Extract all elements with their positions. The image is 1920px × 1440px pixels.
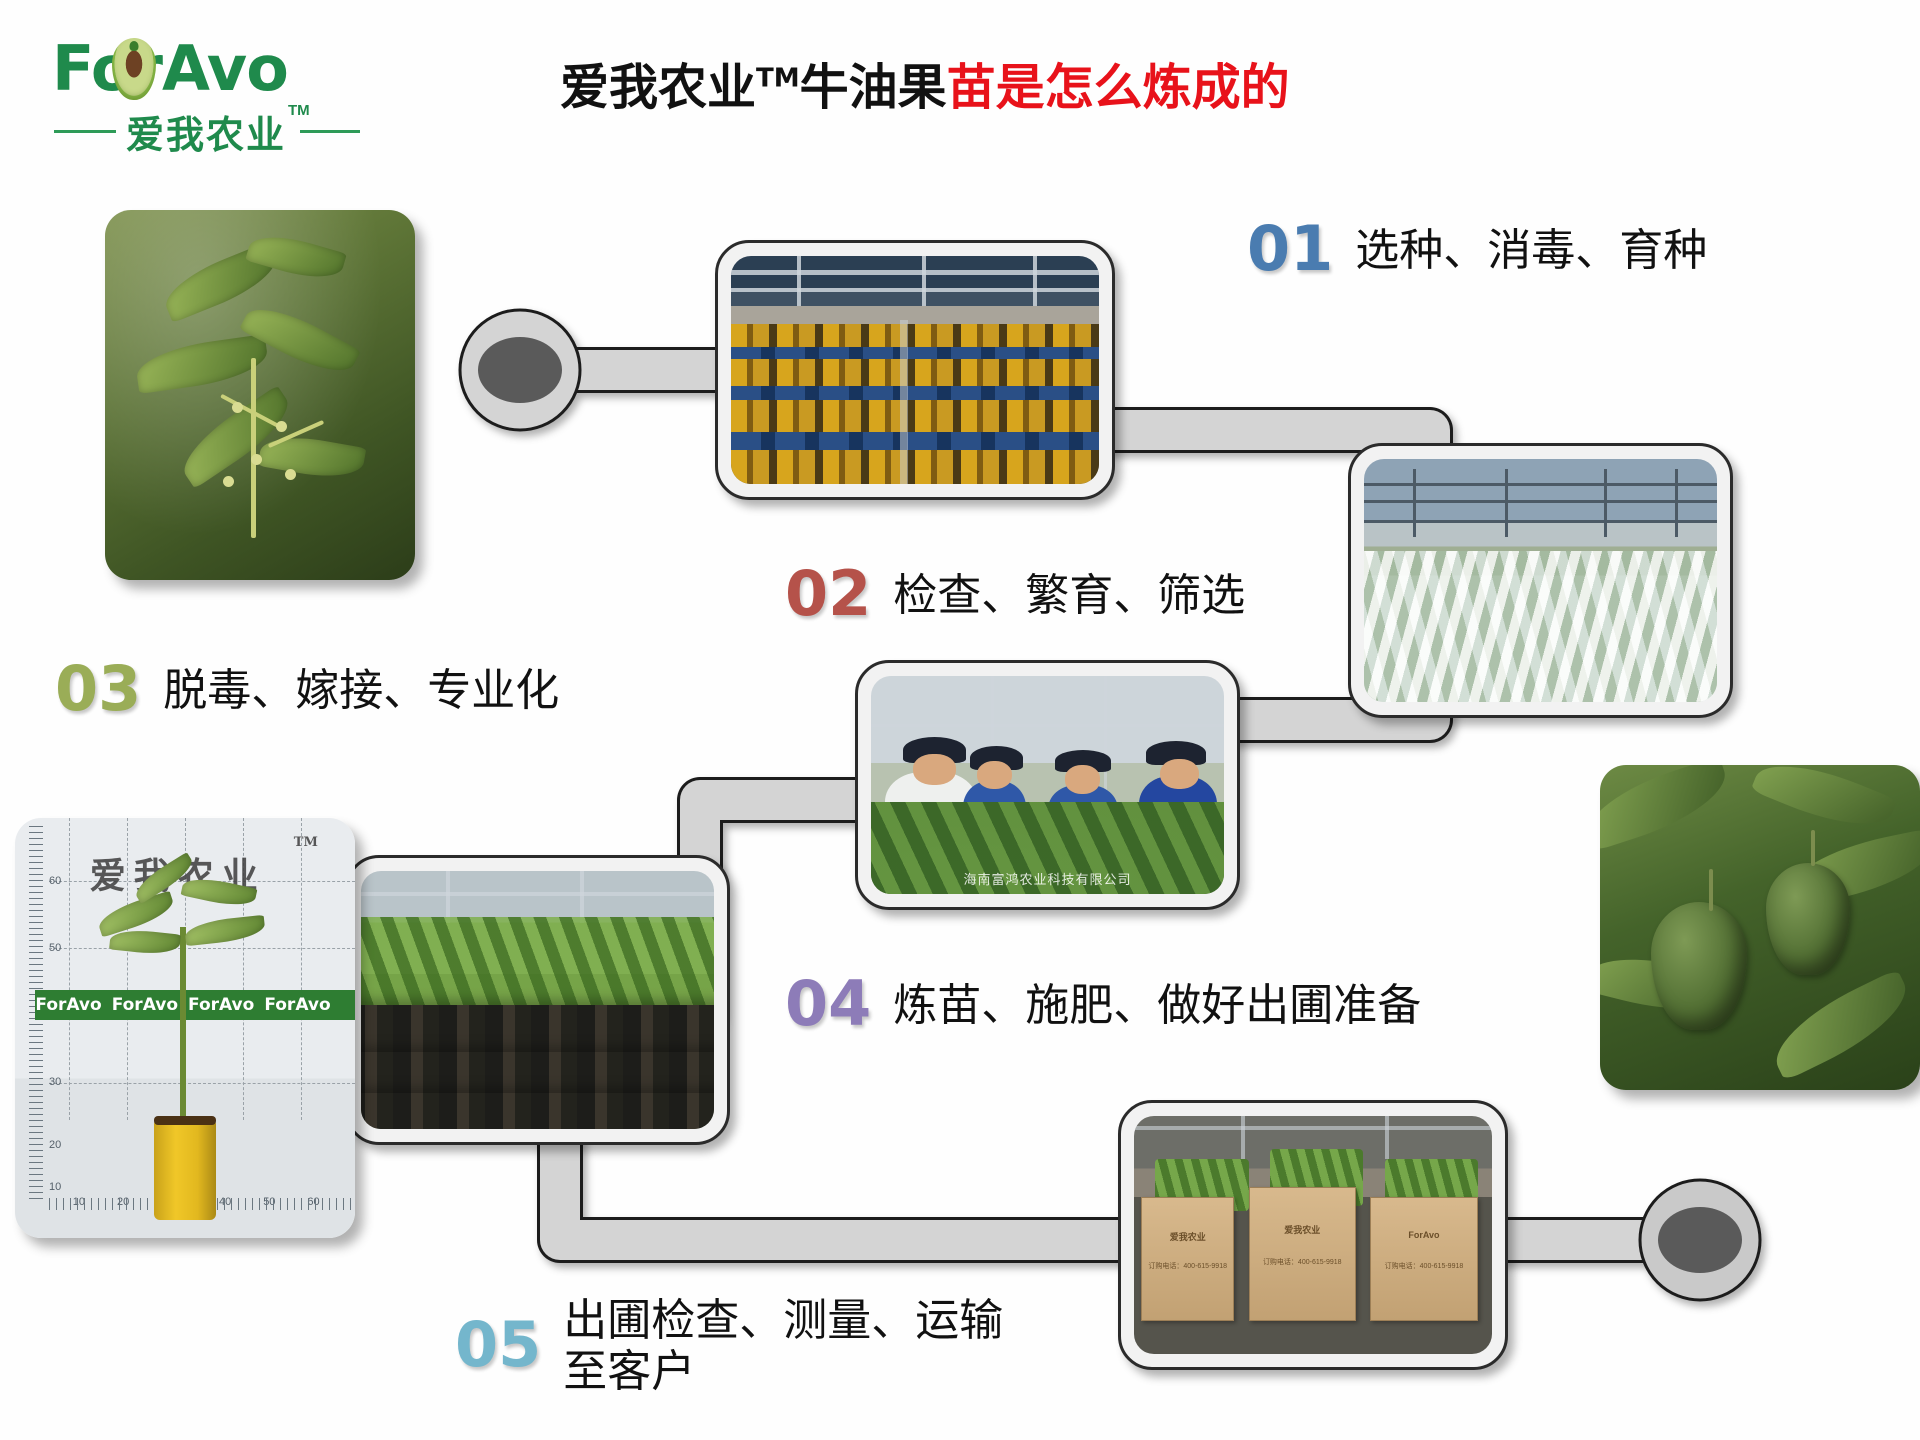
page-title: 爱我农业TM牛油果苗是怎么炼成的 [560,48,1520,119]
step-01-label: 选种、消毒、育种 [1355,220,1707,277]
foravo-band-text-4: ForAvo [264,995,330,1015]
step-04-number: 04 [785,975,871,1034]
page-title-highlight: 苗是怎么炼成的 [947,59,1290,116]
step-03-number: 03 [55,660,141,719]
shipping-box: ForAvo 订购电话：400-615-9918 [1370,1197,1477,1321]
end-node-dot [1658,1207,1742,1273]
step-04-label: 炼苗、施肥、做好出圃准备 [893,975,1421,1032]
step-03: 03 脱毒、嫁接、专业化 [55,660,559,719]
ruler-tick-10: 10 [49,1181,61,1193]
foravo-band-text-3: ForAvo [188,995,254,1015]
box-brand-text: 爱我农业 [1250,1223,1355,1236]
step-02-label: 检查、繁育、筛选 [893,565,1245,622]
ruler-tick-30: 30 [49,1076,61,1088]
shipping-box: 爱我农业 订购电话：400-615-9918 [1141,1197,1234,1321]
photo-grafted-greenhouse [1348,443,1733,718]
step-05-label-line1: 出圃检查、测量、运输 [563,1295,1003,1346]
box-phone-text: 订购电话：400-615-9918 [1250,1257,1355,1267]
ruler-tick-20: 20 [49,1139,61,1151]
foravo-band: ForAvo ForAvo ForAvo ForAvo [35,990,355,1020]
photo-hanging-fruit [1600,765,1920,1090]
shipping-box: 爱我农业 订购电话：400-615-9918 [1249,1187,1356,1320]
page-title-black-1: 爱我农业 [560,59,756,116]
logo-trademark-icon: TM [288,102,310,119]
box-brand-text: 爱我农业 [1142,1230,1233,1243]
step-02: 02 检查、繁育、筛选 [785,565,1245,624]
box-logo-text: ForAvo [1371,1230,1476,1240]
photo-seed-trays [715,240,1115,500]
logo-chinese-name: 爱我农业 [126,104,286,159]
foravo-band-text-2: ForAvo [112,995,178,1015]
box-phone-text: 订购电话：400-615-9918 [1371,1261,1476,1271]
infographic-canvas: ForAvo 爱我农业 TM 爱我农业TM牛油果苗是怎么炼成的 [0,0,1920,1440]
foravo-band-text-1: ForAvo [35,995,101,1015]
trademark-icon: TM [756,64,800,94]
box-phone-text: 订购电话：400-615-9918 [1142,1261,1233,1271]
step-01-number: 01 [1247,220,1333,279]
logo-subtitle: 爱我农业 TM [52,104,352,150]
photo-flowering-branch [105,210,415,580]
step-05-number: 05 [455,1316,541,1375]
ruler-tick-60: 60 [49,875,61,887]
page-title-black-2: 牛油果 [800,59,947,116]
photo-ruler-seedling: 60 50 40 30 20 10 10 20 40 50 60 爱我农业 TM… [15,818,355,1238]
step-05-label-line2: 至客户 [563,1347,1003,1398]
photo-watermark: 海南富鸿农业科技有限公司 [963,869,1131,888]
photo-shipping-boxes: 爱我农业 订购电话：400-615-9918 爱我农业 订购电话：400-615… [1118,1100,1508,1370]
step-01: 01 选种、消毒、育种 [1247,220,1707,279]
photo-potted-seedlings [345,855,730,1145]
logo-wordmark: ForAvo [52,32,352,100]
start-node-dot [478,337,562,403]
step-05-label-wrap: 出圃检查、测量、运输 至客户 [563,1290,1003,1397]
photo-staff-inspection: 海南富鸿农业科技有限公司 [855,660,1240,910]
photo-watermark-tm: TM [294,835,318,850]
logo-wordmark-text: ForAvo [52,32,288,105]
logo-rule-right [300,130,360,133]
brand-logo: ForAvo 爱我农业 TM [52,32,352,152]
ruler-tick-50: 50 [49,942,61,954]
step-02-number: 02 [785,565,871,624]
logo-rule-left [54,130,116,133]
step-04: 04 炼苗、施肥、做好出圃准备 [785,975,1421,1034]
step-05: 05 出圃检查、测量、运输 至客户 [455,1290,1003,1397]
step-03-label: 脱毒、嫁接、专业化 [163,660,559,717]
